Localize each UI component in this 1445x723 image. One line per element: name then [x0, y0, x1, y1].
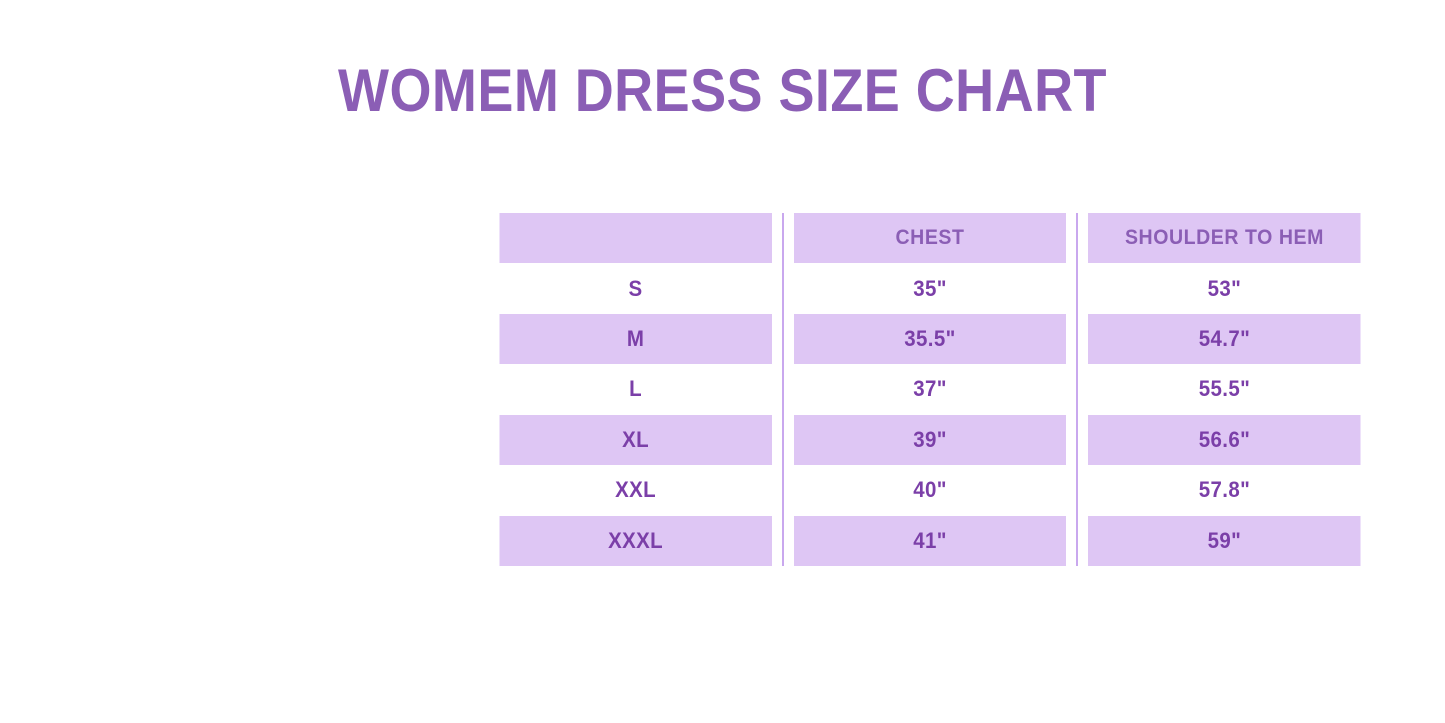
- chest-value: 39": [913, 427, 947, 453]
- cell-size: XL: [499, 415, 772, 465]
- column-header-chest: CHEST: [793, 213, 1066, 263]
- column-header-shoulder-to-hem-label: SHOULDER TO HEM: [1125, 226, 1324, 250]
- cell-chest: 35": [793, 263, 1066, 313]
- column-header-chest-label: CHEST: [896, 226, 965, 250]
- shoulder-to-hem-value: 56.6": [1199, 427, 1250, 453]
- cell-shoulder-to-hem: 59": [1087, 516, 1360, 567]
- chest-value: 37": [913, 376, 947, 402]
- cell-chest: 41": [793, 516, 1066, 567]
- shoulder-to-hem-value: 54.7": [1199, 326, 1250, 352]
- column-header-size: [499, 213, 772, 263]
- size-chart-page: WOMEM DRESS SIZE CHART CHEST SHOULDER TO…: [0, 0, 1445, 723]
- table-header-row: CHEST SHOULDER TO HEM: [489, 213, 1371, 263]
- cell-chest: 39": [793, 415, 1066, 465]
- chest-value: 40": [913, 477, 947, 503]
- column-header-shoulder-to-hem: SHOULDER TO HEM: [1087, 213, 1360, 263]
- size-chart-table: CHEST SHOULDER TO HEM S 35" 53": [489, 213, 1371, 566]
- table-row: M 35.5" 54.7": [489, 314, 1371, 364]
- cell-chest: 35.5": [793, 314, 1066, 364]
- cell-shoulder-to-hem: 54.7": [1087, 314, 1360, 364]
- shoulder-to-hem-value: 57.8": [1199, 477, 1250, 503]
- page-title: WOMEM DRESS SIZE CHART: [72, 56, 1373, 126]
- size-label: XL: [622, 427, 649, 453]
- cell-size: XXXL: [499, 516, 772, 567]
- shoulder-to-hem-value: 55.5": [1199, 376, 1250, 402]
- table-row: XXXL 41" 59": [489, 516, 1371, 567]
- chest-value: 35": [913, 276, 947, 302]
- table-row: XXL 40" 57.8": [489, 465, 1371, 515]
- table-row: L 37" 55.5": [489, 364, 1371, 414]
- cell-chest: 40": [793, 465, 1066, 515]
- cell-size: M: [499, 314, 772, 364]
- table-row: XL 39" 56.6": [489, 415, 1371, 465]
- cell-shoulder-to-hem: 55.5": [1087, 364, 1360, 414]
- size-label: XXXL: [608, 528, 663, 554]
- cell-shoulder-to-hem: 56.6": [1087, 415, 1360, 465]
- shoulder-to-hem-value: 59": [1208, 528, 1242, 554]
- cell-chest: 37": [793, 364, 1066, 414]
- size-label: M: [627, 326, 644, 352]
- cell-size: S: [499, 263, 772, 313]
- chest-value: 41": [913, 528, 947, 554]
- cell-size: XXL: [499, 465, 772, 515]
- cell-size: L: [499, 364, 772, 414]
- cell-shoulder-to-hem: 53": [1087, 263, 1360, 313]
- shoulder-to-hem-value: 53": [1208, 276, 1242, 302]
- size-label: L: [629, 376, 642, 402]
- cell-shoulder-to-hem: 57.8": [1087, 465, 1360, 515]
- chest-value: 35.5": [904, 326, 955, 352]
- size-label: XXL: [615, 477, 656, 503]
- table-row: S 35" 53": [489, 263, 1371, 313]
- size-label: S: [629, 276, 643, 302]
